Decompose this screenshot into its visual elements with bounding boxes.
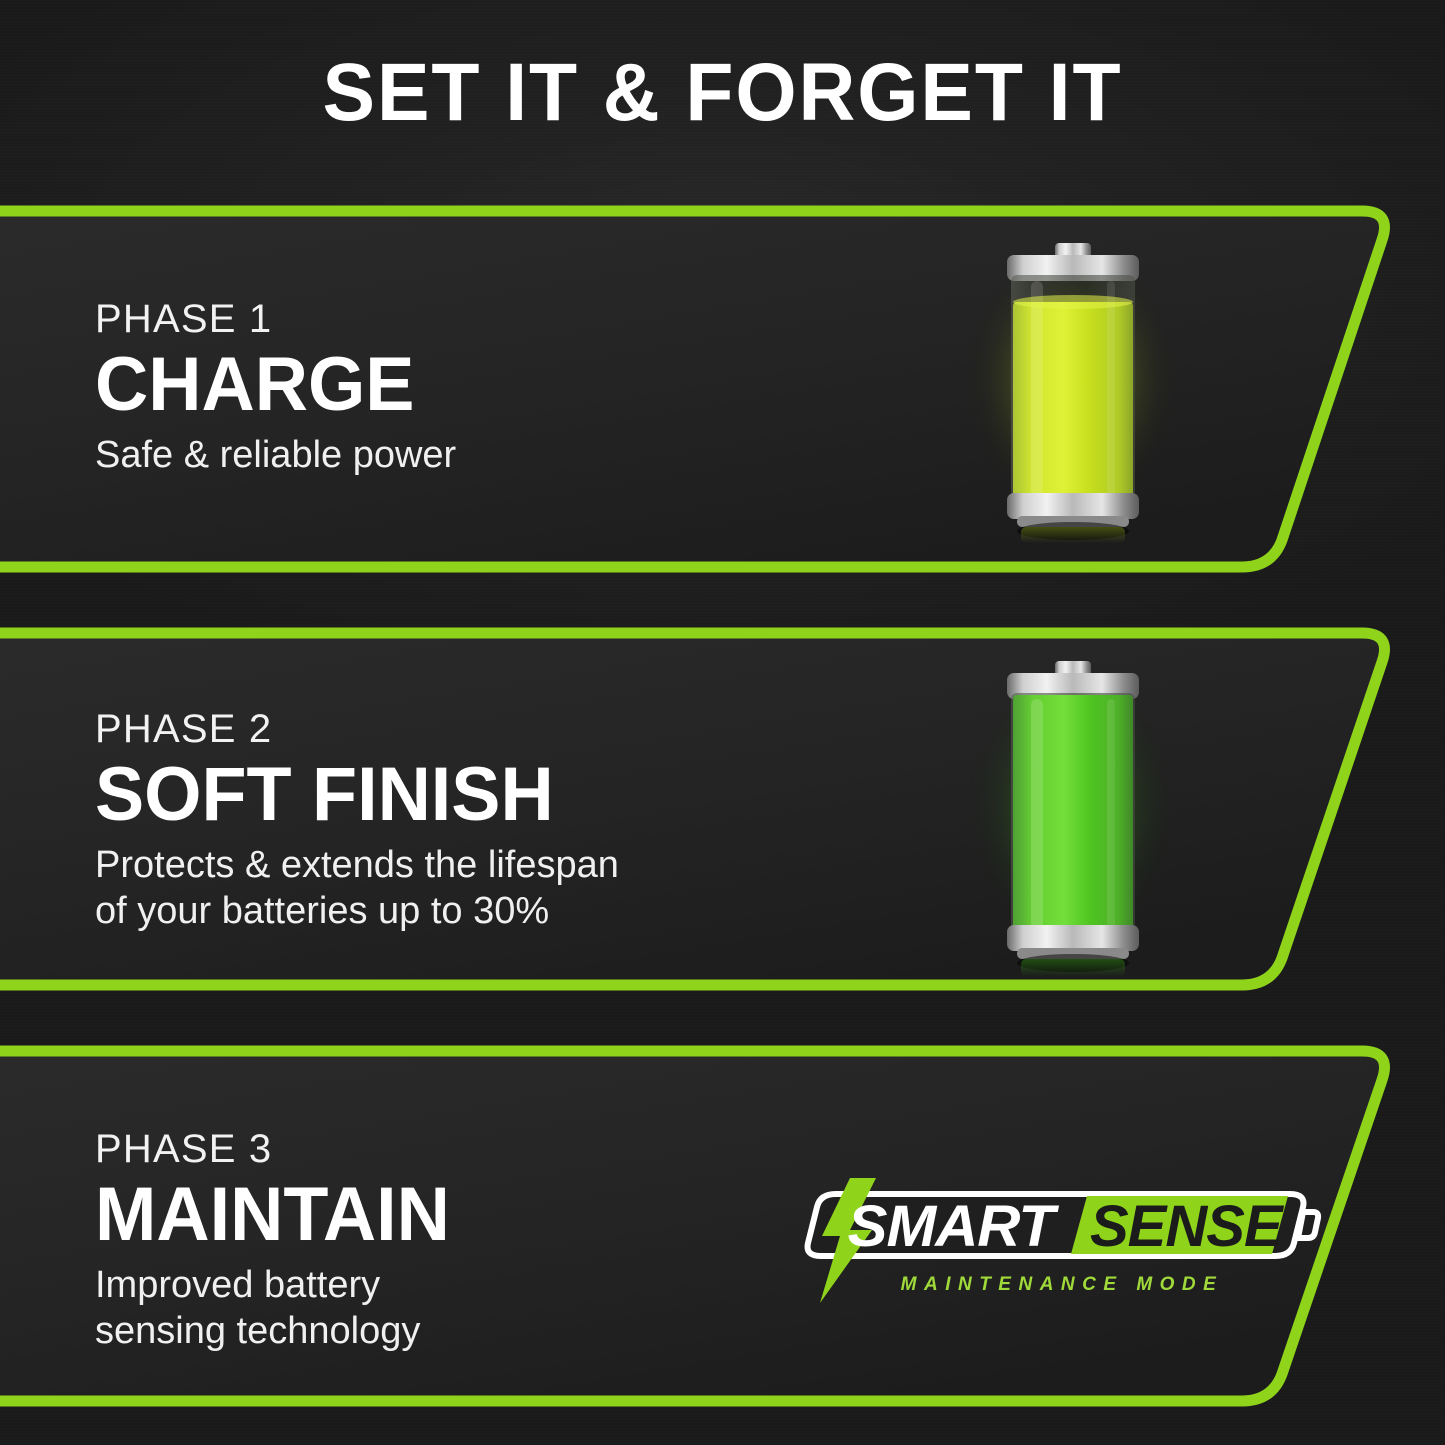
logo-tagline: MAINTENANCE MODE bbox=[901, 1274, 1224, 1295]
phase-2-description: Protects & extends the lifespan of your … bbox=[95, 842, 619, 935]
phase-1-description: Safe & reliable power bbox=[95, 432, 456, 478]
battery-full-icon bbox=[965, 655, 1180, 985]
page-title: SET IT & FORGET IT bbox=[29, 52, 1416, 134]
logo-sense-text: SENSE bbox=[1090, 1194, 1285, 1259]
logo-battery-terminal bbox=[1298, 1212, 1318, 1238]
phase-3-copy: PHASE 3 MAINTAIN Improved battery sensin… bbox=[95, 1128, 461, 1354]
phase-3-label: PHASE 3 bbox=[95, 1128, 461, 1170]
smartsense-logo: SMART SENSE MAINTENANCE MODE bbox=[790, 1178, 1335, 1303]
phase-1-label: PHASE 1 bbox=[95, 298, 456, 340]
phase-2-label: PHASE 2 bbox=[95, 708, 619, 750]
phase-2-copy: PHASE 2 SOFT FINISH Protects & extends t… bbox=[95, 708, 619, 934]
logo-smart-text: SMART bbox=[848, 1195, 1060, 1259]
phase-1-copy: PHASE 1 CHARGE Safe & reliable power bbox=[95, 298, 456, 478]
phase-1-title: CHARGE bbox=[95, 346, 445, 424]
phase-3-title: MAINTAIN bbox=[95, 1176, 450, 1254]
battery-charging-icon bbox=[965, 235, 1180, 545]
phase-2-title: SOFT FINISH bbox=[95, 756, 603, 834]
infographic-canvas: SET IT & FORGET IT PHASE 1 CHARGE Safe &… bbox=[0, 0, 1445, 1445]
phase-3-description: Improved battery sensing technology bbox=[95, 1262, 461, 1355]
